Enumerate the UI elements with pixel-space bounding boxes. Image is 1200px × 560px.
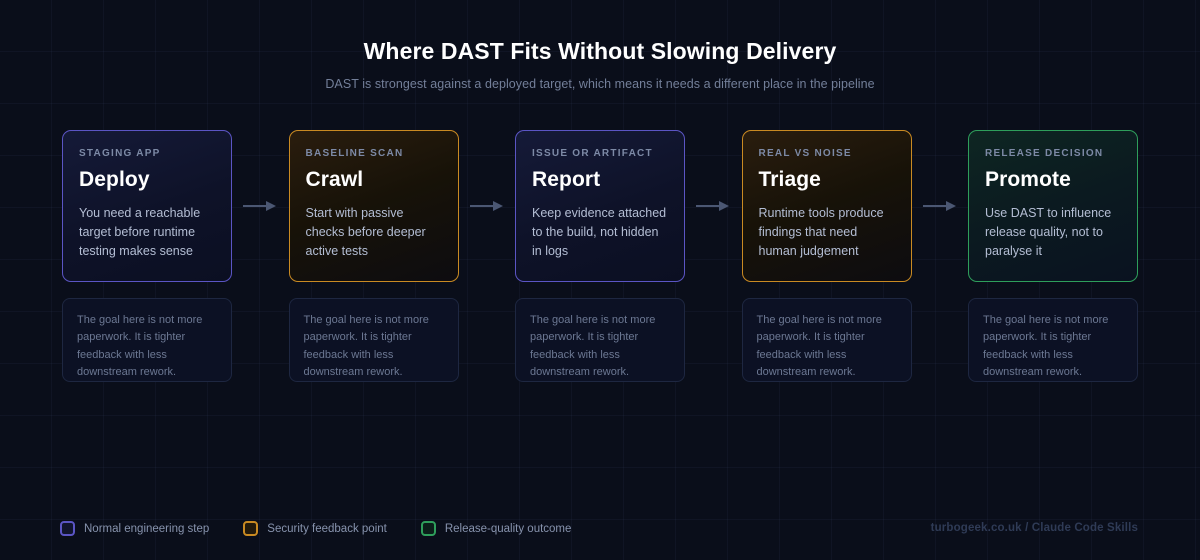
infographic-stage: Where DAST Fits Without Slowing Delivery… <box>0 0 1200 560</box>
legend-item-2: Security feedback point <box>243 521 387 536</box>
header: Where DAST Fits Without Slowing Delivery… <box>0 38 1200 91</box>
step-title: Triage <box>759 168 895 191</box>
pipeline-note-4: The goal here is not more paperwork. It … <box>742 298 912 382</box>
pipeline-step-1[interactable]: STAGING APPDeployYou need a reachable ta… <box>62 130 232 282</box>
legend-item-3: Release-quality outcome <box>421 521 572 536</box>
arrow-right-icon <box>923 200 957 212</box>
step-body: Start with passive checks before deeper … <box>306 204 442 261</box>
note-spacer <box>685 298 742 382</box>
step-body: Runtime tools produce findings that need… <box>759 204 895 261</box>
step-title: Crawl <box>306 168 442 191</box>
note-text: The goal here is not more paperwork. It … <box>983 312 1123 382</box>
pipeline-note-1: The goal here is not more paperwork. It … <box>62 298 232 382</box>
note-spacer <box>912 298 969 382</box>
legend-item-1: Normal engineering step <box>60 521 209 536</box>
step-eyebrow: REAL VS NOISE <box>759 148 895 159</box>
step-body: Keep evidence attached to the build, not… <box>532 204 668 261</box>
legend-swatch-icon <box>421 521 436 536</box>
step-eyebrow: BASELINE SCAN <box>306 148 442 159</box>
step-title: Report <box>532 168 668 191</box>
step-eyebrow: STAGING APP <box>79 148 215 159</box>
step-body: You need a reachable target before runti… <box>79 204 215 261</box>
legend-swatch-icon <box>60 521 75 536</box>
note-text: The goal here is not more paperwork. It … <box>77 312 217 382</box>
pipeline-note-2: The goal here is not more paperwork. It … <box>289 298 459 382</box>
note-text: The goal here is not more paperwork. It … <box>304 312 444 382</box>
page-subtitle: DAST is strongest against a deployed tar… <box>0 77 1200 91</box>
pipeline-connector-2 <box>459 130 516 282</box>
pipeline-step-4[interactable]: REAL VS NOISETriageRuntime tools produce… <box>742 130 912 282</box>
pipeline-step-5[interactable]: RELEASE DECISIONPromoteUse DAST to influ… <box>968 130 1138 282</box>
pipeline-connector-1 <box>232 130 289 282</box>
pipeline-connector-3 <box>685 130 742 282</box>
step-title: Deploy <box>79 168 215 191</box>
legend-label: Security feedback point <box>267 523 387 535</box>
pipeline-note-5: The goal here is not more paperwork. It … <box>968 298 1138 382</box>
step-body: Use DAST to influence release quality, n… <box>985 204 1121 261</box>
legend-swatch-icon <box>243 521 258 536</box>
page-title: Where DAST Fits Without Slowing Delivery <box>0 38 1200 66</box>
note-spacer <box>459 298 516 382</box>
footer-credit: turbogeek.co.uk / Claude Code Skills <box>931 522 1138 534</box>
arrow-right-icon <box>470 200 504 212</box>
pipeline-step-2[interactable]: BASELINE SCANCrawlStart with passive che… <box>289 130 459 282</box>
pipeline-notes: The goal here is not more paperwork. It … <box>62 298 1138 382</box>
pipeline-note-3: The goal here is not more paperwork. It … <box>515 298 685 382</box>
legend: Normal engineering stepSecurity feedback… <box>60 521 571 536</box>
pipeline-steps: STAGING APPDeployYou need a reachable ta… <box>62 130 1138 282</box>
note-text: The goal here is not more paperwork. It … <box>530 312 670 382</box>
note-text: The goal here is not more paperwork. It … <box>757 312 897 382</box>
step-title: Promote <box>985 168 1121 191</box>
legend-label: Release-quality outcome <box>445 523 572 535</box>
note-spacer <box>232 298 289 382</box>
pipeline-step-3[interactable]: ISSUE OR ARTIFACTReportKeep evidence att… <box>515 130 685 282</box>
step-eyebrow: ISSUE OR ARTIFACT <box>532 148 668 159</box>
arrow-right-icon <box>243 200 277 212</box>
legend-label: Normal engineering step <box>84 523 209 535</box>
step-eyebrow: RELEASE DECISION <box>985 148 1121 159</box>
pipeline-connector-4 <box>912 130 969 282</box>
arrow-right-icon <box>696 200 730 212</box>
